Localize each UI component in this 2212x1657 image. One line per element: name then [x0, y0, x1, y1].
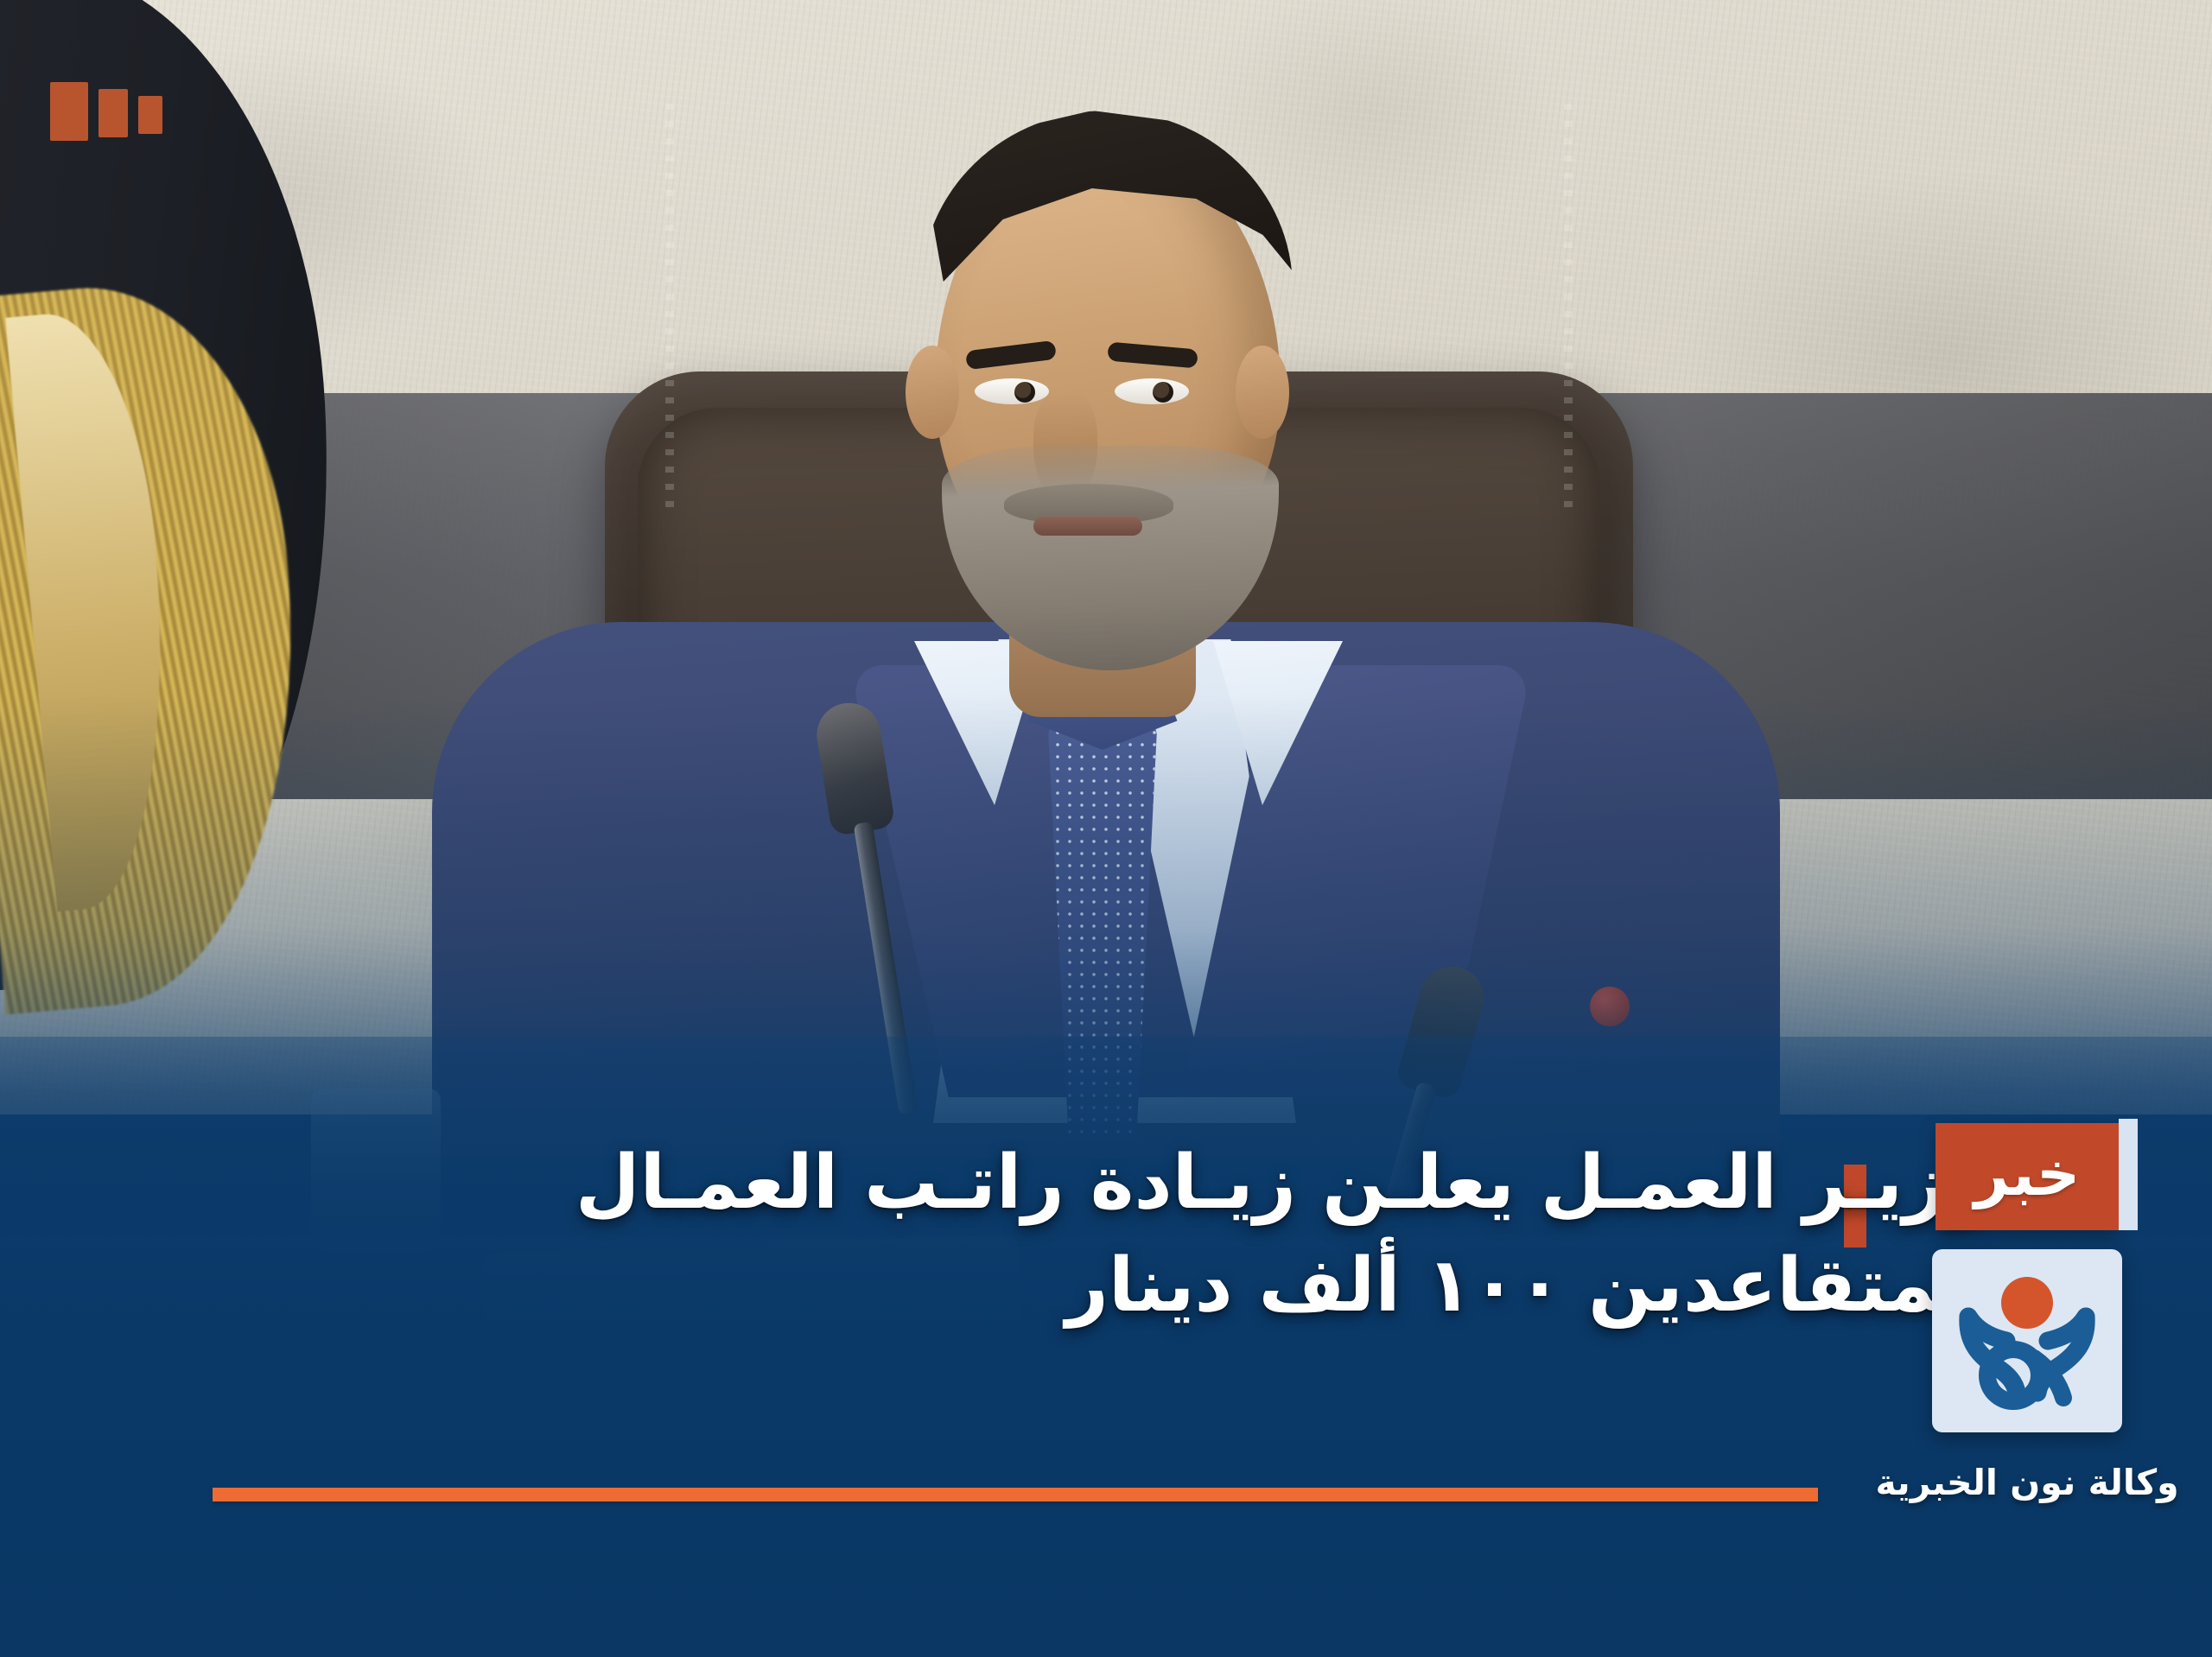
- orange-divider-line-icon: [213, 1488, 1818, 1501]
- blue-overlay-gradient-lower: [0, 1037, 2212, 1657]
- brand-block: خبر وكالة نون الخبرية: [1897, 1123, 2157, 1503]
- agency-name: وكالة نون الخبرية: [1875, 1462, 2178, 1503]
- agency-logo: [1932, 1249, 2122, 1432]
- headline-line-2: المتقاعدين ١٠٠ ألف دينار: [419, 1235, 1992, 1337]
- noon-figure-logo-icon: [1951, 1267, 2103, 1415]
- status-badge: خبر: [1935, 1123, 2119, 1230]
- page-title: وزيـر العمـل يعلـن زيـادة راتـب العمـال …: [419, 1132, 1992, 1336]
- status-badge-label: خبر: [1974, 1144, 2081, 1209]
- three-bars-mark-icon: [50, 82, 162, 141]
- news-graphic-card: وزيـر العمـل يعلـن زيـادة راتـب العمـال …: [0, 0, 2212, 1657]
- headline-line-1: وزيـر العمـل يعلـن زيـادة راتـب العمـال: [575, 1140, 1992, 1226]
